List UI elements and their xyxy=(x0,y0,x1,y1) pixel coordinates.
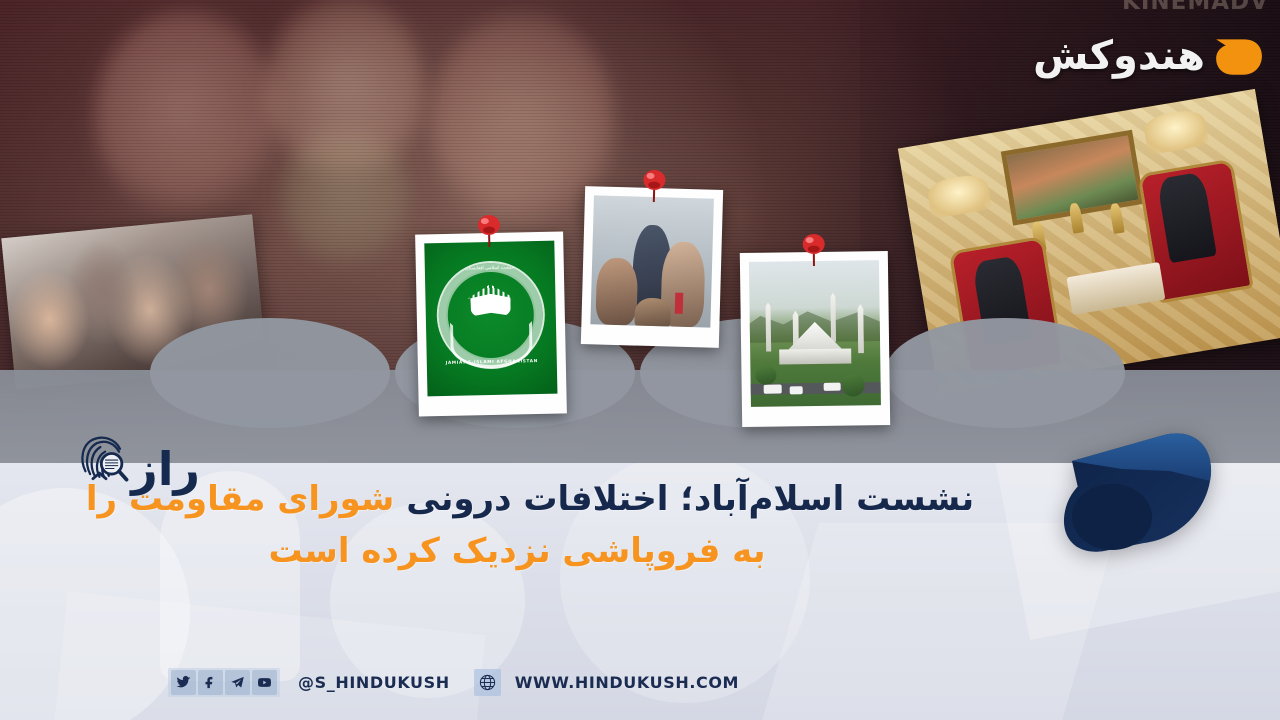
hindukush-logo-mark xyxy=(1060,425,1220,565)
photo-car xyxy=(790,386,803,395)
headline-segment-navy-a: نشست اسلام‌آباد؛ اختلافات xyxy=(523,479,974,519)
photo-minaret xyxy=(857,304,864,353)
headline-segment-navy-b: درونی xyxy=(406,479,511,519)
polaroid-leaders-photo xyxy=(581,186,723,348)
photo-car xyxy=(764,385,782,394)
telegram-icon[interactable] xyxy=(225,670,250,695)
polaroid-image xyxy=(590,195,714,327)
photo-person xyxy=(595,257,638,325)
emblem-top-text: جمعیت اسلامی افغانستان xyxy=(465,266,514,272)
headline: نشست اسلام‌آباد؛ اختلافات درونی شورای مق… xyxy=(0,474,1060,577)
photo-minaret xyxy=(765,302,772,351)
photo-mosque-base xyxy=(779,349,852,365)
channel-name-text: هندوکش xyxy=(1033,36,1205,76)
channel-logo[interactable]: هندوکش xyxy=(1033,30,1264,82)
headline-line-2: به فروپاشی نزدیک کرده است xyxy=(0,526,1060,578)
website-url[interactable]: WWW.HINDUKUSH.COM xyxy=(515,673,739,692)
emblem-bottom-text: JAMIAT-E-ISLAMI AFGHANISTAN xyxy=(446,358,538,365)
polaroid-image: جمعیت اسلامی افغانستان JAMIAT-E-ISLAMI A… xyxy=(424,241,557,397)
twitter-icon[interactable] xyxy=(171,670,196,695)
polaroid-faisal-mosque xyxy=(740,251,890,427)
band-scallop xyxy=(885,318,1125,428)
youtube-icon[interactable] xyxy=(252,670,277,695)
polaroid-jamiat-emblem: جمعیت اسلامی افغانستان JAMIAT-E-ISLAMI A… xyxy=(415,231,567,416)
photo-bush xyxy=(756,366,777,385)
polaroid-image xyxy=(749,260,881,407)
social-icon-group xyxy=(168,668,280,697)
social-handle[interactable]: @S_HINDUKUSH xyxy=(298,673,450,692)
footer-bar: @S_HINDUKUSH WWW.HINDUKUSH.COM xyxy=(168,668,739,697)
facebook-icon[interactable] xyxy=(198,670,223,695)
photo-necktie xyxy=(675,293,684,314)
headline-line-2-text: به فروپاشی نزدیک کرده است xyxy=(268,531,765,571)
photo-car xyxy=(823,382,840,391)
news-thumbnail-canvas: KINEMADV xyxy=(0,0,1280,720)
hindukush-swoosh-icon xyxy=(1212,30,1264,82)
headline-segment-orange: شورای مقاومت را xyxy=(86,479,395,519)
globe-icon xyxy=(474,669,501,696)
photo-minaret xyxy=(830,293,837,342)
jamiat-emblem-icon: جمعیت اسلامی افغانستان JAMIAT-E-ISLAMI A… xyxy=(436,260,546,370)
watermark-text: KINEMADV xyxy=(1122,0,1269,15)
photo-person xyxy=(635,297,672,327)
headline-line-1: نشست اسلام‌آباد؛ اختلافات درونی شورای مق… xyxy=(0,474,1060,526)
